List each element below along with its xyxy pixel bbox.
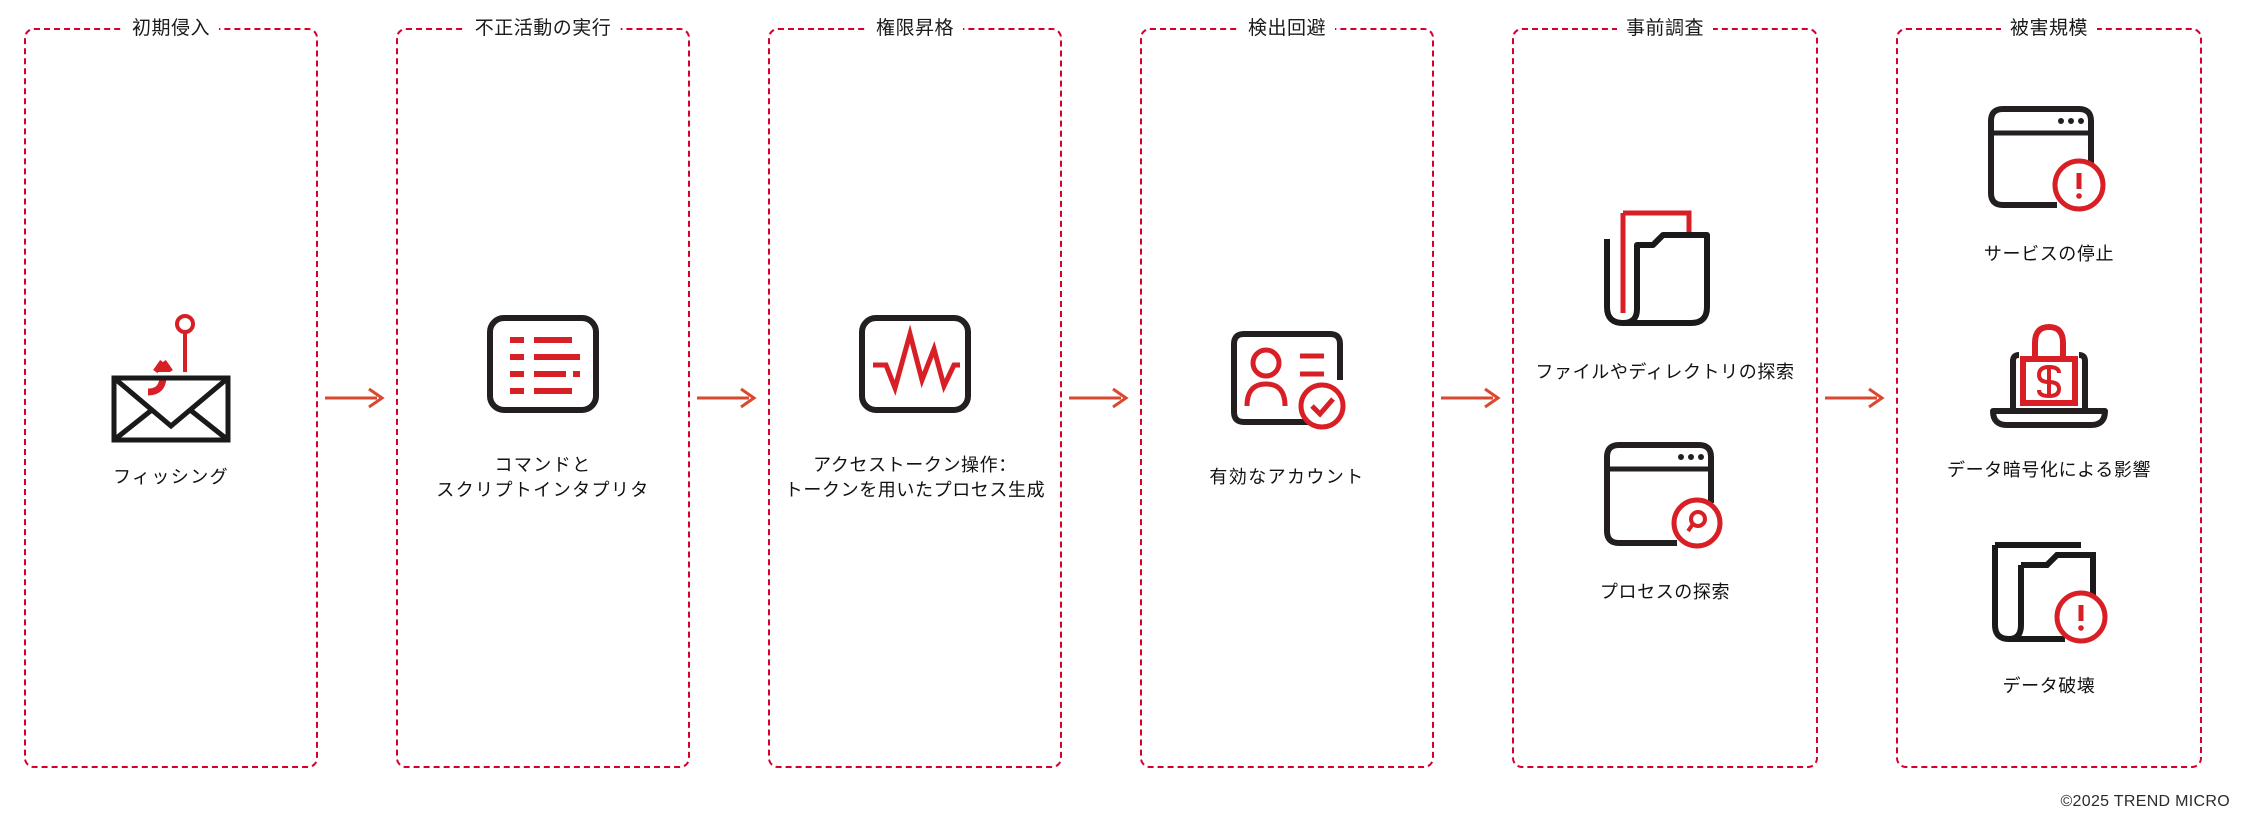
copyright-notice: ©2025 TREND MICRO: [2060, 793, 2230, 811]
laptop-lock-dollar-icon: [1969, 313, 2129, 444]
stage-slot-execution: 不正活動の実行: [396, 28, 768, 768]
node-command-script-interpreter[interactable]: コマンドと スクリプトインタプリタ: [436, 294, 649, 503]
window-alert-icon: [1969, 97, 2129, 228]
connector-arrow-4: [1434, 385, 1512, 411]
node-label-command-script-interpreter: コマンドと スクリプトインタプリタ: [436, 453, 649, 503]
stage-row: 初期侵入: [24, 28, 2232, 768]
stage-body-initial-access: フィッシング: [26, 30, 316, 766]
node-label-data-destruction: データ破壊: [2003, 674, 2096, 699]
waveform-icon: [840, 294, 990, 439]
stage-slot-defense-evasion: 検出回避: [1140, 28, 1512, 768]
connector-arrow-5: [1818, 385, 1896, 411]
node-label-service-stop: サービスの停止: [1984, 242, 2114, 267]
stage-panel-execution: 不正活動の実行: [396, 28, 690, 768]
id-card-check-icon: [1212, 306, 1362, 451]
stage-panel-discovery: 事前調査 ファイル: [1512, 28, 1818, 768]
stage-panel-impact: 被害規模: [1896, 28, 2202, 768]
stage-slot-initial-access: 初期侵入: [24, 28, 396, 768]
connector-arrow-2: [690, 385, 768, 411]
node-phishing[interactable]: フィッシング: [96, 306, 246, 490]
script-list-icon: [468, 294, 618, 439]
node-label-phishing: フィッシング: [113, 465, 229, 490]
stage-panel-privilege-escalation: 権限昇格 アクセストークン操作： トークンを用いたプロセス生成: [768, 28, 1062, 768]
folders-icon: [1585, 191, 1745, 346]
stage-panel-initial-access: 初期侵入: [24, 28, 318, 768]
node-label-valid-accounts: 有効なアカウント: [1209, 465, 1364, 490]
stage-body-privilege-escalation: アクセストークン操作： トークンを用いたプロセス生成: [770, 30, 1060, 766]
stage-body-execution: コマンドと スクリプトインタプリタ: [398, 30, 688, 766]
node-label-process-discovery: プロセスの探索: [1600, 580, 1730, 605]
node-label-data-encrypted-impact: データ暗号化による影響: [1947, 458, 2151, 483]
node-label-access-token-manipulation: アクセストークン操作： トークンを用いたプロセス生成: [785, 453, 1045, 503]
node-access-token-manipulation[interactable]: アクセストークン操作： トークンを用いたプロセス生成: [785, 294, 1045, 503]
node-service-stop[interactable]: サービスの停止: [1969, 97, 2129, 267]
envelope-hook-icon: [96, 306, 246, 451]
connector-arrow-1: [318, 385, 396, 411]
stage-panel-defense-evasion: 検出回避: [1140, 28, 1434, 768]
window-search-icon: [1585, 431, 1745, 566]
stage-body-defense-evasion: 有効なアカウント: [1142, 30, 1432, 766]
node-data-encrypted-impact[interactable]: データ暗号化による影響: [1947, 313, 2151, 483]
stage-body-discovery: ファイルやディレクトリの探索: [1514, 30, 1816, 766]
node-label-file-directory-discovery: ファイルやディレクトリの探索: [1535, 360, 1794, 385]
connector-arrow-3: [1062, 385, 1140, 411]
stage-body-impact: サービスの停止: [1898, 30, 2200, 766]
attack-chain-diagram: 初期侵入: [0, 0, 2256, 825]
folder-alert-icon: [1969, 529, 2129, 660]
stage-slot-impact: 被害規模: [1896, 28, 2202, 768]
stage-slot-discovery: 事前調査 ファイル: [1512, 28, 1896, 768]
node-file-directory-discovery[interactable]: ファイルやディレクトリの探索: [1535, 191, 1794, 385]
node-process-discovery[interactable]: プロセスの探索: [1585, 431, 1745, 605]
stage-slot-privilege-escalation: 権限昇格 アクセストークン操作： トークンを用いたプロセス生成: [768, 28, 1140, 768]
node-valid-accounts[interactable]: 有効なアカウント: [1209, 306, 1364, 490]
node-data-destruction[interactable]: データ破壊: [1969, 529, 2129, 699]
